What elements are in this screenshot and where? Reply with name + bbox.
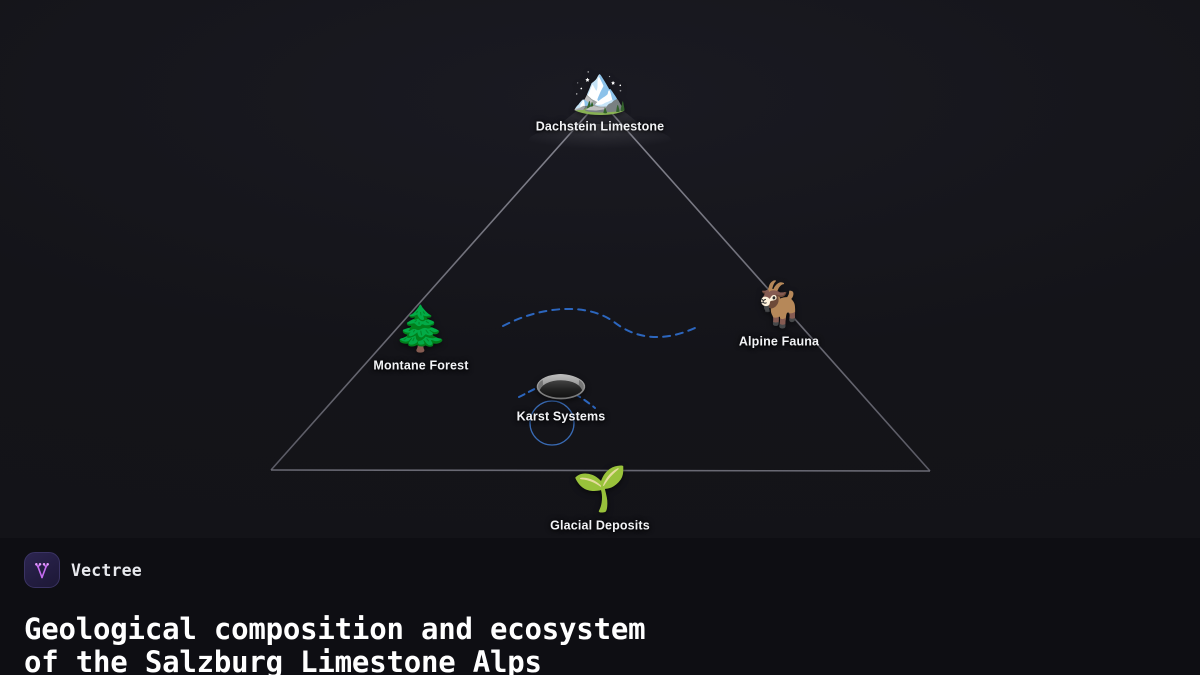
brand-name: Vectree <box>71 561 142 580</box>
snow-capped-mountain-icon: 🏔️ <box>571 67 628 113</box>
node-label-glacial-deposits: Glacial Deposits <box>550 519 650 533</box>
node-alpine-fauna[interactable]: 🐐 Alpine Fauna <box>664 284 894 349</box>
screenshot-root: 🏔️ Dachstein Limestone 🌲 Montane Forest … <box>0 0 1200 675</box>
title-row: Geological composition and ecosystem of … <box>24 594 1176 675</box>
node-label-dachstein-limestone: Dachstein Limestone <box>536 120 665 134</box>
node-dachstein-limestone[interactable]: 🏔️ Dachstein Limestone <box>485 67 715 134</box>
page-title: Geological composition and ecosystem of … <box>24 613 645 675</box>
hole-icon: 🕳️ <box>534 359 589 403</box>
seedling-icon: 🌱 <box>573 468 628 512</box>
node-karst-systems[interactable]: 🕳️ Karst Systems <box>446 359 676 424</box>
diagram-canvas[interactable]: 🏔️ Dachstein Limestone 🌲 Montane Forest … <box>0 0 1200 538</box>
brand[interactable]: Vectree <box>24 552 1176 588</box>
goat-icon: 🐐 <box>752 284 807 328</box>
node-label-alpine-fauna: Alpine Fauna <box>739 335 819 349</box>
node-label-karst-systems: Karst Systems <box>517 410 606 424</box>
evergreen-tree-icon: 🌲 <box>394 308 449 352</box>
vectree-branch-logo-icon <box>24 552 60 588</box>
node-glacial-deposits[interactable]: 🌱 Glacial Deposits <box>485 468 715 533</box>
footer-bar: Vectree Geological composition and ecosy… <box>0 538 1200 675</box>
